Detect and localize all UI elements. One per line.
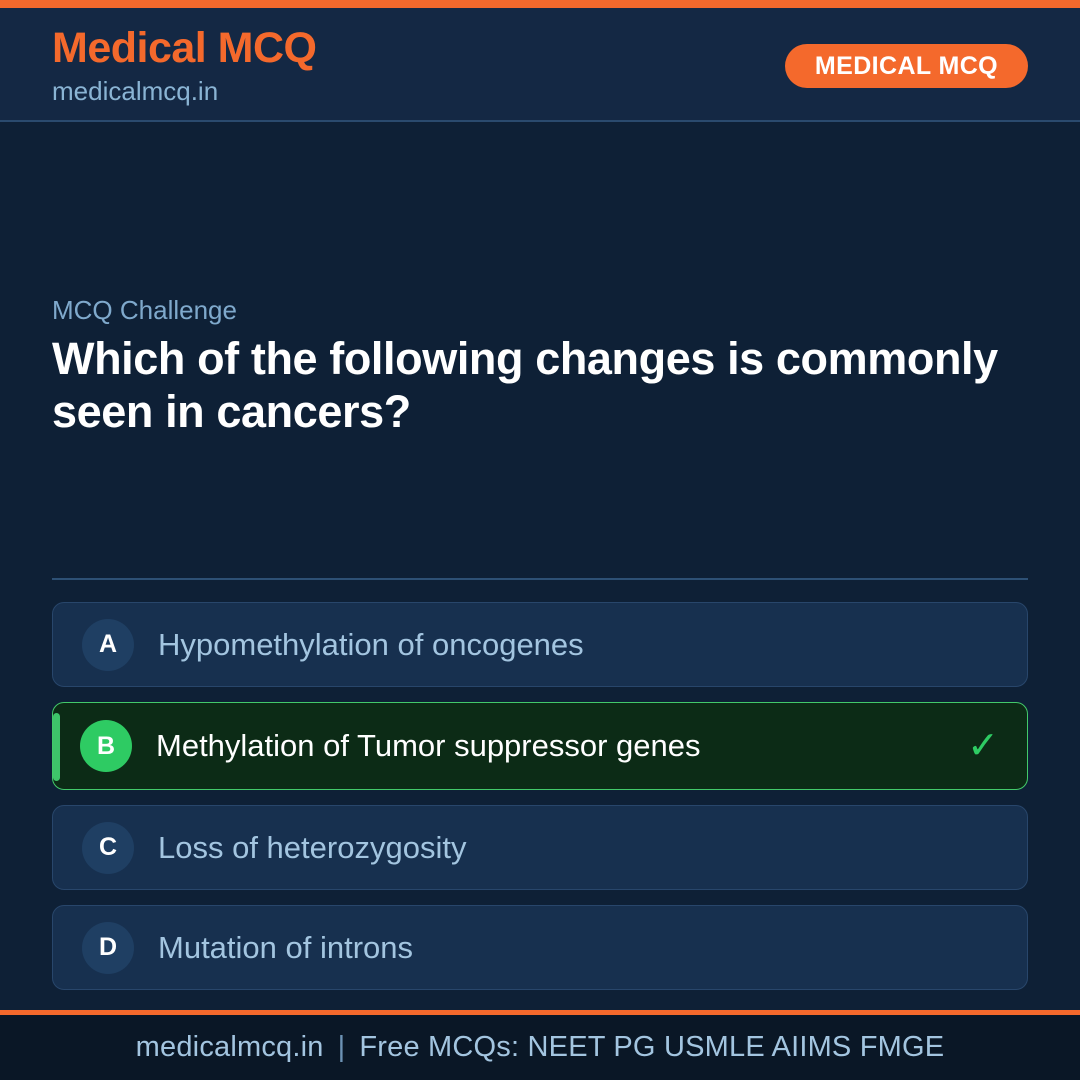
option-letter-badge: C (82, 822, 134, 874)
header-badge-label: MEDICAL MCQ (815, 52, 998, 81)
page-footer: medicalmcq.in|Free MCQs: NEET PG USMLE A… (0, 1015, 1080, 1080)
top-accent-rule (0, 0, 1080, 8)
question-divider (52, 578, 1028, 580)
footer-separator: | (324, 1031, 360, 1063)
brand-block: Medical MCQ medicalmcq.in (52, 22, 317, 107)
options-list: A Hypomethylation of oncogenes ✓ B Methy… (52, 602, 1028, 1005)
option-letter-badge: A (82, 619, 134, 671)
option-row-b[interactable]: B Methylation of Tumor suppressor genes … (52, 702, 1028, 790)
footer-site[interactable]: medicalmcq.in (136, 1031, 324, 1063)
question-eyebrow: MCQ Challenge (52, 294, 1028, 326)
page-header: Medical MCQ medicalmcq.in MEDICAL MCQ (0, 8, 1080, 122)
option-label: Methylation of Tumor suppressor genes (156, 727, 701, 765)
brand-url: medicalmcq.in (52, 75, 317, 107)
option-row-d[interactable]: D Mutation of introns ✓ (52, 905, 1028, 990)
question-text: Which of the following changes is common… (52, 332, 1028, 438)
option-label: Hypomethylation of oncogenes (158, 626, 584, 664)
header-badge[interactable]: MEDICAL MCQ (785, 44, 1028, 88)
option-label: Mutation of introns (158, 929, 413, 967)
option-letter-badge: B (80, 720, 132, 772)
option-letter-badge: D (82, 922, 134, 974)
question-block: MCQ Challenge Which of the following cha… (52, 294, 1028, 438)
main-content: MCQ Challenge Which of the following cha… (0, 124, 1080, 1010)
check-icon: ✓ (967, 727, 999, 765)
option-row-a[interactable]: A Hypomethylation of oncogenes ✓ (52, 602, 1028, 687)
footer-text-row: medicalmcq.in|Free MCQs: NEET PG USMLE A… (136, 1031, 945, 1064)
option-row-c[interactable]: C Loss of heterozygosity ✓ (52, 805, 1028, 890)
option-label: Loss of heterozygosity (158, 829, 466, 867)
brand-title: Medical MCQ (52, 22, 317, 74)
footer-exams-label: Free MCQs: NEET PG USMLE AIIMS FMGE (359, 1031, 944, 1063)
correct-accent-bar (53, 713, 60, 781)
